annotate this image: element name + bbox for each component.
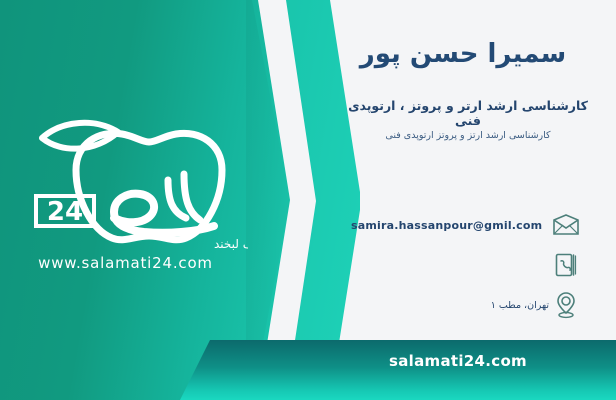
phonebook-icon — [549, 252, 583, 278]
logo-badge-text: 24 — [47, 197, 83, 227]
salamati24-logo: 24 به راحتی یک لبخند www.salamati24.com — [18, 108, 248, 278]
business-card: 24 به راحتی یک لبخند www.salamati24.com … — [0, 0, 616, 400]
contact-row-address[interactable]: تهران، مطب ۱ — [345, 285, 583, 325]
apple-outline-icon — [76, 133, 222, 239]
calligraphy-stroke-3-icon — [184, 174, 200, 220]
contact-address-text: تهران، مطب ۱ — [345, 300, 549, 311]
person-title: کارشناسی ارشد ارتر و پروتز ، ارتوپدی فنی — [348, 98, 588, 128]
contact-email-text: samira.hassanpour@gmil.com — [345, 219, 549, 232]
footer-website[interactable]: salamati24.com — [300, 352, 616, 370]
person-title-secondary: کارشناسی ارشد ارتز و پروتز ارتوپدی فنی — [348, 130, 588, 141]
contact-row-email[interactable]: samira.hassanpour@gmil.com — [345, 205, 583, 245]
contact-list: samira.hassanpour@gmil.com — [345, 205, 583, 325]
logo-tagline: به راحتی یک لبخند — [214, 237, 248, 252]
logo-website[interactable]: www.salamati24.com — [18, 254, 233, 272]
person-name: سمیرا حسن پور — [348, 38, 578, 71]
envelope-icon — [549, 214, 583, 236]
location-pin-icon — [549, 291, 583, 319]
contact-row-phone[interactable] — [345, 245, 583, 285]
calligraphy-stroke-icon — [114, 194, 214, 233]
